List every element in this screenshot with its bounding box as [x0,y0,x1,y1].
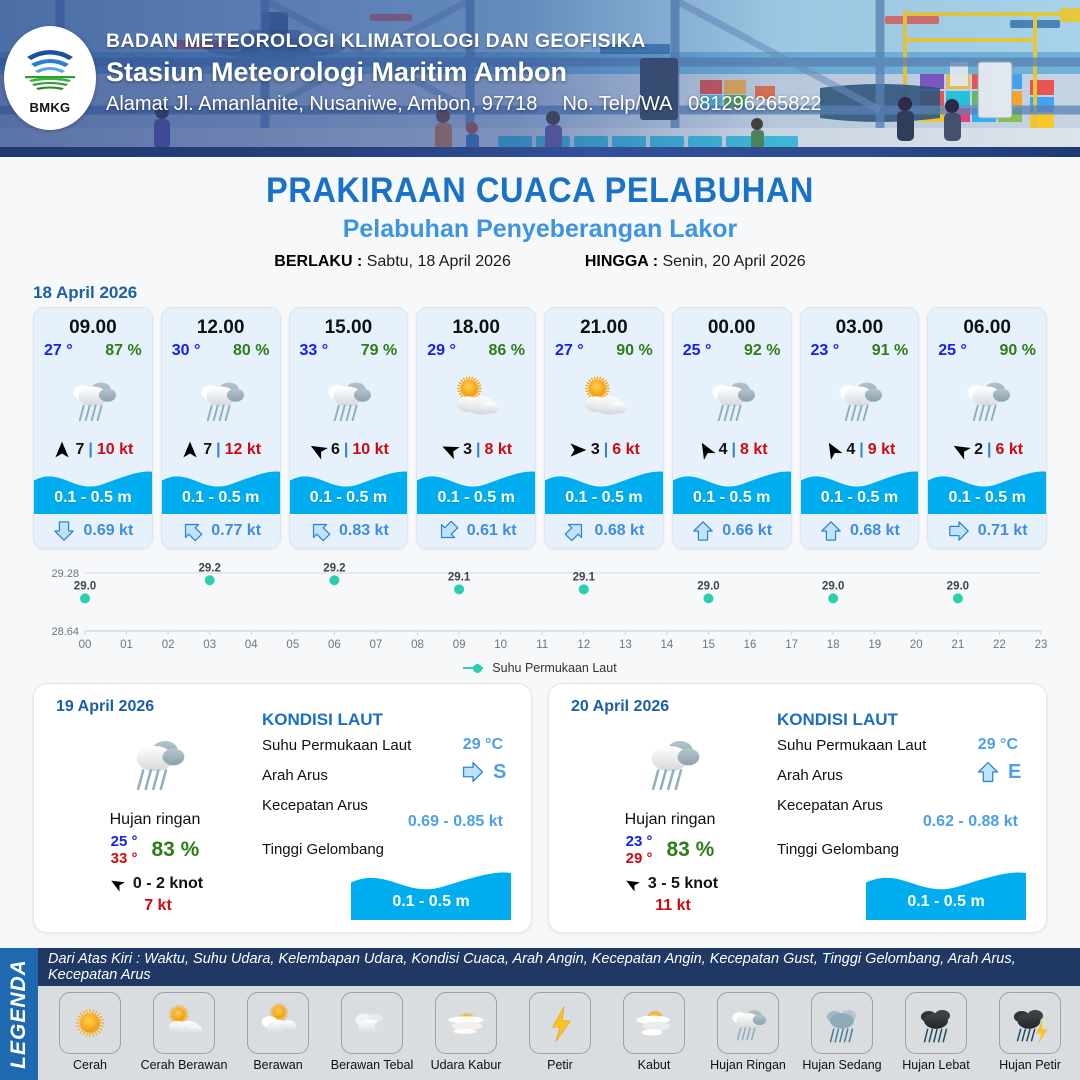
card-wind-speed: 3 [591,441,600,459]
wave-height-label: Tinggi Gelombang [262,841,384,858]
card-temperature: 27 ° [555,342,584,360]
ytick-label: 28.64 [51,626,79,638]
xtick-label: 12 [577,639,590,651]
card-wave: 0.1 - 0.5 m [417,464,535,514]
current-direction-row: Arah Arus E [777,767,1032,797]
card-current: 0.83 kt [290,514,408,548]
xtick-label: 16 [744,639,757,651]
card-weather-icon [162,360,280,438]
legend-item: Hujan Sedang [796,992,888,1072]
legend-items: Cerah Cerah Berawan Berawan [38,986,1080,1080]
legend-icon-box [999,992,1061,1054]
xtick-label: 06 [328,639,341,651]
bmkg-logo-text: BMKG [30,100,71,115]
daily-condition: Hujan ringan [50,811,260,829]
xtick-label: 13 [619,639,632,651]
daily-date: 20 April 2026 [571,698,669,716]
bmkg-logo-mark [19,41,81,99]
daily-humidity: 83 % [151,838,199,862]
legend-item: Hujan Lebat [890,992,982,1072]
daily-wind: 3 - 5 knot [565,875,775,893]
weather-icon-hujan-ringan [722,997,774,1049]
daily-summary: Hujan ringan 25 ° 33 ° 83 % 0 - 2 knot 7… [50,720,260,915]
card-humidity: 79 % [361,342,397,360]
data-point-label: 29.0 [697,580,719,592]
xtick-label: 01 [120,639,133,651]
sst-legend-label: Suhu Permukaan Laut [492,661,616,675]
card-wind-separator: | [475,441,481,459]
card-gust-speed: 9 kt [868,441,896,459]
legend-item-label: Hujan Ringan [710,1058,786,1072]
xtick-label: 10 [494,639,507,651]
wind-direction-arrow [107,876,127,892]
card-current: 0.66 kt [673,514,791,548]
legend-item: Cerah [44,992,136,1072]
current-direction-letter: E [1008,761,1026,784]
current-direction-letter: S [493,761,511,784]
header-bottom-strip [0,147,1080,157]
page-header: BMKG BADAN METEOROLOGI KLIMATOLOGI DAN G… [0,0,1080,157]
sst-value: 29 °C [978,736,1018,754]
current-direction-arrow [947,521,971,541]
card-wave: 0.1 - 0.5 m [162,464,280,514]
card-wind-separator: | [603,441,609,459]
station-name: Stasiun Meteorologi Maritim Ambon [106,57,822,88]
current-speed-row: Kecepatan Arus 0.62 - 0.88 kt [777,797,1032,827]
card-gust-speed: 6 kt [996,441,1024,459]
sea-conditions-title: KONDISI LAUT [777,710,1032,730]
xtick-label: 00 [79,639,92,651]
current-direction-arrow [691,521,715,541]
data-point[interactable] [205,575,215,585]
card-wave: 0.1 - 0.5 m [34,464,152,514]
wind-direction-arrow [951,440,971,460]
bmkg-logo: BMKG [4,26,96,130]
hourly-card[interactable]: 15.00 33 ° 79 % 6 | 10 kt 0.1 - 0.5 m [289,307,409,549]
weather-icon-kabut [628,997,680,1049]
card-temperature: 25 ° [938,342,967,360]
hourly-card[interactable]: 03.00 23 ° 91 % 4 | 9 kt 0.1 - 0.5 m [800,307,920,549]
xtick-label: 04 [245,639,258,651]
legend-item: Cerah Berawan [138,992,230,1072]
card-temperature: 33 ° [300,342,329,360]
card-wave: 0.1 - 0.5 m [290,464,408,514]
hourly-card[interactable]: 21.00 27 ° 90 % 3 | 6 kt 0.1 - 0.5 m [544,307,664,549]
card-wave-height: 0.1 - 0.5 m [34,489,152,507]
card-wind-separator: | [731,441,737,459]
sst-chart: 29.2828.64000102030405060708091011121314… [33,559,1047,659]
wave-height-graphic [866,864,1026,920]
legend-icon-box [341,992,403,1054]
daily-condition: Hujan ringan [565,811,775,829]
weather-icon-hujan-ringan [954,366,1020,432]
data-point-label: 29.1 [448,571,471,583]
card-time: 09.00 [34,308,152,339]
card-temp-humidity: 30 ° 80 % [162,339,280,360]
daily-gust: 7 kt [50,897,260,915]
card-weather-icon [673,360,791,438]
current-speed-value: 0.69 - 0.85 kt [408,813,503,831]
wind-direction-arrow [180,440,200,460]
card-wind: 2 | 6 kt [928,438,1046,464]
current-direction-arrow [563,521,587,541]
data-point-label: 29.2 [199,562,221,574]
card-wave: 0.1 - 0.5 m [673,464,791,514]
card-wave-height: 0.1 - 0.5 m [290,489,408,507]
card-wind-separator: | [343,441,349,459]
card-temperature: 30 ° [172,342,201,360]
card-humidity: 90 % [1000,342,1036,360]
card-humidity: 91 % [872,342,908,360]
current-direction-row: Arah Arus S [262,767,517,797]
card-wind: 4 | 9 kt [801,438,919,464]
data-point-label: 29.0 [74,580,96,592]
daily-wave-height: 0.1 - 0.5 m [351,893,511,911]
card-gust-speed: 10 kt [352,441,388,459]
card-gust-speed: 6 kt [612,441,640,459]
xtick-label: 17 [785,639,798,651]
wave-height-graphic [351,864,511,920]
card-wind: 3 | 6 kt [545,438,663,464]
card-weather-icon [290,360,408,438]
card-temp-humidity: 29 ° 86 % [417,339,535,360]
card-current-speed: 0.77 kt [211,522,261,540]
legend-item-label: Berawan Tebal [331,1058,413,1072]
card-current: 0.77 kt [162,514,280,548]
weather-icon-cerah [64,997,116,1049]
daily-sea-conditions: KONDISI LAUT Suhu Permukaan Laut 29 °C A… [777,710,1032,922]
legend-caption: Dari Atas Kiri : Waktu, Suhu Udara, Kele… [38,948,1080,986]
card-temp-humidity: 27 ° 90 % [545,339,663,360]
weather-icon-hujan-ringan [113,720,197,804]
legend-item: Hujan Ringan [702,992,794,1072]
legend-icon-box [717,992,779,1054]
daily-forecast-panel: 19 April 2026 Hujan ringan 25 ° 33 ° 83 … [33,683,532,933]
card-gust-speed: 12 kt [225,441,261,459]
weather-icon-cerah-berawan [571,366,637,432]
card-wave-height: 0.1 - 0.5 m [417,489,535,507]
card-time: 18.00 [417,308,535,339]
sst-label: Suhu Permukaan Laut [777,737,926,754]
data-point[interactable] [329,575,339,585]
current-direction-arrow [819,521,843,541]
legend-icon-box [59,992,121,1054]
legend-icon-box [153,992,215,1054]
data-point[interactable] [953,593,963,603]
legend-item: Petir [514,992,606,1072]
weather-icon-hujan-lebat [910,997,962,1049]
card-humidity: 92 % [744,342,780,360]
xtick-label: 11 [536,639,548,651]
card-temp-humidity: 27 ° 87 % [34,339,152,360]
legend-bar: LEGENDA Dari Atas Kiri : Waktu, Suhu Uda… [0,948,1080,1080]
card-wave-height: 0.1 - 0.5 m [801,489,919,507]
weather-icon-berawan [252,997,304,1049]
wind-direction-arrow [308,440,328,460]
weather-icon-hujan-ringan [60,366,126,432]
weather-icon-hujan-ringan [188,366,254,432]
daily-forecast-panel: 20 April 2026 Hujan ringan 23 ° 29 ° 83 … [548,683,1047,933]
card-wave-height: 0.1 - 0.5 m [545,489,663,507]
card-humidity: 90 % [616,342,652,360]
card-wind-separator: | [986,441,992,459]
xtick-label: 03 [203,639,216,651]
card-current: 0.61 kt [417,514,535,548]
current-direction-arrow [436,521,460,541]
legend-icon-box [623,992,685,1054]
xtick-label: 07 [370,639,383,651]
data-point[interactable] [703,593,713,603]
card-wind: 4 | 8 kt [673,438,791,464]
card-wave-height: 0.1 - 0.5 m [673,489,791,507]
weather-icon-hujan-ringan [699,366,765,432]
hourly-date-label: 18 April 2026 [33,283,1080,303]
data-point[interactable] [828,593,838,603]
xtick-label: 09 [453,639,466,651]
xtick-label: 14 [661,639,674,651]
legend-item-label: Hujan Lebat [902,1058,969,1072]
card-wave: 0.1 - 0.5 m [545,464,663,514]
valid-to-value: Senin, 20 April 2026 [662,253,805,270]
card-wind-speed: 6 [331,441,340,459]
daily-weather-icon [50,720,260,809]
card-current: 0.69 kt [34,514,152,548]
daily-wind-range: 0 - 2 knot [133,875,203,893]
weather-icon-hujan-ringan [628,720,712,804]
card-weather-icon [928,360,1046,438]
card-gust-speed: 8 kt [485,441,513,459]
card-wind-speed: 7 [203,441,212,459]
current-direction-value: E [976,759,1026,785]
card-time: 21.00 [545,308,663,339]
daily-date: 19 April 2026 [56,698,154,716]
station-contact: Alamat Jl. Amanlanite, Nusaniwe, Ambon, … [106,93,822,116]
card-wind-separator: | [858,441,864,459]
card-gust-speed: 8 kt [740,441,768,459]
card-time: 00.00 [673,308,791,339]
current-direction-label: Arah Arus [262,767,328,784]
xtick-label: 21 [951,639,964,651]
xtick-label: 15 [702,639,715,651]
daily-forecast-row: 19 April 2026 Hujan ringan 25 ° 33 ° 83 … [0,675,1080,933]
station-address: Alamat Jl. Amanlanite, Nusaniwe, Ambon, … [106,93,537,115]
current-direction-arrow [180,521,204,541]
valid-from-label: BERLAKU : [274,253,362,270]
card-wind: 7 | 10 kt [34,438,152,464]
card-wind-speed: 4 [719,441,728,459]
daily-temps: 25 ° 33 ° 83 % [50,833,260,868]
header-text-block: BADAN METEOROLOGI KLIMATOLOGI DAN GEOFIS… [106,30,822,116]
weather-icon-hujan-ringan [826,366,892,432]
data-point[interactable] [80,593,90,603]
card-temperature: 29 ° [427,342,456,360]
daily-temp-max: 29 ° [626,850,653,867]
data-point-label: 29.0 [947,580,969,592]
sea-conditions-title: KONDISI LAUT [262,710,517,730]
card-wave-height: 0.1 - 0.5 m [162,489,280,507]
weather-icon-petir [534,997,586,1049]
current-speed-row: Kecepatan Arus 0.69 - 0.85 kt [262,797,517,827]
hourly-card[interactable]: 06.00 25 ° 90 % 2 | 6 kt 0.1 - 0.5 m [927,307,1047,549]
legend-item: Hujan Petir [984,992,1076,1072]
card-humidity: 86 % [489,342,525,360]
current-direction-label: Arah Arus [777,767,843,784]
daily-wave: 0.1 - 0.5 m [866,864,1026,920]
daily-temp-min: 25 ° [111,833,138,850]
daily-weather-icon [565,720,775,809]
card-temp-humidity: 25 ° 92 % [673,339,791,360]
card-temperature: 27 ° [44,342,73,360]
current-direction-arrow [976,759,1000,785]
weather-icon-udara-kabur [440,997,492,1049]
wind-direction-arrow [622,876,642,892]
legend-item-label: Petir [547,1058,573,1072]
card-current: 0.71 kt [928,514,1046,548]
phone-number: 081296265822 [688,93,821,115]
card-wind-speed: 7 [75,441,84,459]
title-block: PRAKIRAAN CUACA PELABUHAN Pelabuhan Peny… [0,171,1080,271]
legend-item: Udara Kabur [420,992,512,1072]
legend-item-label: Hujan Petir [999,1058,1061,1072]
legend-item-label: Cerah Berawan [141,1058,228,1072]
ytick-label: 29.28 [51,568,79,580]
xtick-label: 20 [910,639,923,651]
hourly-card[interactable]: 09.00 27 ° 87 % 7 | 10 kt 0.1 - 0.5 m [33,307,153,549]
xtick-label: 05 [286,639,299,651]
legend-item: Kabut [608,992,700,1072]
valid-to: HINGGA : Senin, 20 April 2026 [585,253,806,271]
legend-icon-box [529,992,591,1054]
weather-icon-cerah-berawan [443,366,509,432]
wind-direction-arrow [823,440,843,460]
card-current-speed: 0.66 kt [722,522,772,540]
xtick-label: 18 [827,639,840,651]
current-speed-value: 0.62 - 0.88 kt [923,813,1018,831]
valid-from: BERLAKU : Sabtu, 18 April 2026 [274,253,511,271]
card-wave-height: 0.1 - 0.5 m [928,489,1046,507]
daily-wind-range: 3 - 5 knot [648,875,718,893]
legend-item-label: Berawan [253,1058,302,1072]
sst-chart-svg: 29.2828.64000102030405060708091011121314… [33,559,1047,659]
data-point-label: 29.1 [573,571,596,583]
daily-wave-height: 0.1 - 0.5 m [866,893,1026,911]
legend-side-banner: LEGENDA [0,948,38,1080]
hourly-card[interactable]: 18.00 29 ° 86 % 3 | 8 kt 0.1 - 0.5 m [416,307,536,549]
card-gust-speed: 10 kt [97,441,133,459]
weather-icon-hujan-sedang [816,997,868,1049]
card-wind-separator: | [87,441,93,459]
wind-direction-arrow [696,440,716,460]
daily-temp-max: 33 ° [111,850,138,867]
valid-from-value: Sabtu, 18 April 2026 [367,253,511,270]
agency-name: BADAN METEOROLOGI KLIMATOLOGI DAN GEOFIS… [106,30,822,53]
card-wind: 7 | 12 kt [162,438,280,464]
card-wave: 0.1 - 0.5 m [801,464,919,514]
legend-item-label: Hujan Sedang [802,1058,881,1072]
sst-chart-legend: Suhu Permukaan Laut [0,661,1080,675]
legend-line-icon [463,667,483,669]
legend-item: Berawan [232,992,324,1072]
card-time: 12.00 [162,308,280,339]
card-current-speed: 0.68 kt [850,522,900,540]
xtick-label: 22 [993,639,1006,651]
card-wind-separator: | [215,441,221,459]
legend-item: Berawan Tebal [326,992,418,1072]
card-time: 06.00 [928,308,1046,339]
wind-direction-arrow [440,440,460,460]
legend-icon-box [905,992,967,1054]
data-point[interactable] [579,584,589,594]
xtick-label: 02 [162,639,175,651]
legend-icon-box [811,992,873,1054]
card-time: 03.00 [801,308,919,339]
legend-icon-box [435,992,497,1054]
card-temp-humidity: 33 ° 79 % [290,339,408,360]
card-current-speed: 0.68 kt [594,522,644,540]
card-time: 15.00 [290,308,408,339]
daily-temp-min: 23 ° [626,833,653,850]
weather-icon-hujan-petir [1004,997,1056,1049]
card-temperature: 23 ° [811,342,840,360]
valid-to-label: HINGGA : [585,253,658,270]
card-current-speed: 0.83 kt [339,522,389,540]
card-weather-icon [417,360,535,438]
card-weather-icon [801,360,919,438]
data-point-label: 29.0 [822,580,844,592]
wave-height-label: Tinggi Gelombang [777,841,899,858]
card-current: 0.68 kt [801,514,919,548]
wind-direction-arrow [52,440,72,460]
legend-item-label: Cerah [73,1058,107,1072]
sst-value: 29 °C [463,736,503,754]
card-wind-speed: 3 [463,441,472,459]
card-humidity: 80 % [233,342,269,360]
current-direction-arrow [308,521,332,541]
validity-row: BERLAKU : Sabtu, 18 April 2026 HINGGA : … [0,253,1080,271]
card-humidity: 87 % [105,342,141,360]
card-weather-icon [34,360,152,438]
card-wind-speed: 4 [846,441,855,459]
legend-icon-box [247,992,309,1054]
legend-item-label: Udara Kabur [431,1058,502,1072]
hourly-forecast-cards: 09.00 27 ° 87 % 7 | 10 kt 0.1 - 0.5 m [0,307,1080,549]
weather-icon-cerah-berawan [158,997,210,1049]
hourly-card[interactable]: 00.00 25 ° 92 % 4 | 8 kt 0.1 - 0.5 m [672,307,792,549]
sst-label: Suhu Permukaan Laut [262,737,411,754]
daily-sea-conditions: KONDISI LAUT Suhu Permukaan Laut 29 °C A… [262,710,517,922]
legend-item-label: Kabut [638,1058,671,1072]
xtick-label: 19 [868,639,881,651]
card-temperature: 25 ° [683,342,712,360]
card-wind-speed: 2 [974,441,983,459]
data-point[interactable] [454,584,464,594]
daily-summary: Hujan ringan 23 ° 29 ° 83 % 3 - 5 knot 1… [565,720,775,915]
card-current-speed: 0.69 kt [83,522,133,540]
xtick-label: 08 [411,639,424,651]
hourly-card[interactable]: 12.00 30 ° 80 % 7 | 12 kt 0.1 - 0.5 m [161,307,281,549]
card-temp-humidity: 25 ° 90 % [928,339,1046,360]
weather-icon-berawan-tebal [346,997,398,1049]
card-wave: 0.1 - 0.5 m [928,464,1046,514]
daily-temps: 23 ° 29 ° 83 % [565,833,775,868]
current-direction-arrow [461,759,485,785]
wind-direction-arrow [568,440,588,460]
card-temp-humidity: 23 ° 91 % [801,339,919,360]
card-current-speed: 0.71 kt [978,522,1028,540]
card-weather-icon [545,360,663,438]
data-point-label: 29.2 [323,562,345,574]
legend-side-label: LEGENDA [7,959,31,1069]
